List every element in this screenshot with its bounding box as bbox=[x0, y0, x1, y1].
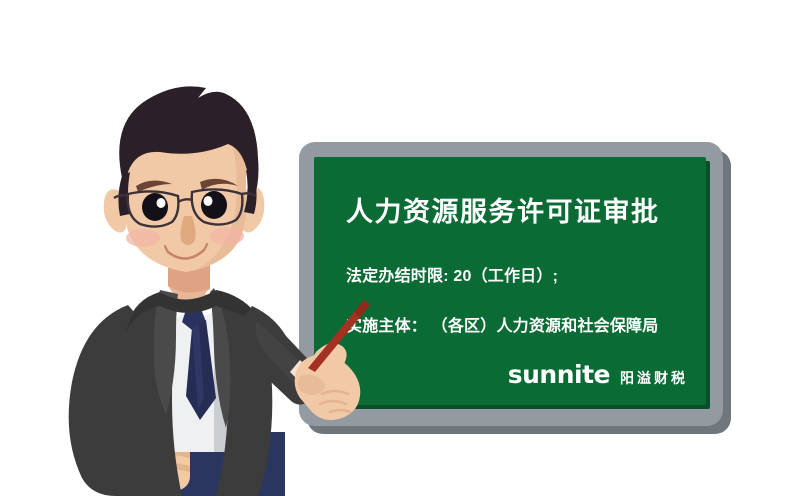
trousers bbox=[163, 432, 285, 496]
neck bbox=[168, 262, 210, 306]
board-authority-line: 实施主体： （各区）人力资源和社会保障局 bbox=[346, 319, 658, 335]
suit-jacket-right bbox=[216, 290, 272, 496]
nose bbox=[180, 216, 195, 245]
cheek-left bbox=[126, 229, 160, 247]
glasses bbox=[114, 189, 256, 226]
suit-jacket-left bbox=[121, 292, 182, 496]
suit-left-arm-inner bbox=[126, 366, 162, 478]
ear-right bbox=[242, 187, 264, 232]
brand-logo: sunnite 阳溢财税 bbox=[508, 362, 688, 387]
tie-knot bbox=[182, 306, 206, 330]
brand-chinese-name: 阳溢财税 bbox=[620, 371, 688, 387]
hair bbox=[119, 86, 258, 198]
eyebrow-left bbox=[136, 180, 172, 192]
mouth-corner-right bbox=[204, 244, 207, 250]
eyebrow-right bbox=[200, 179, 238, 190]
shirt bbox=[160, 292, 228, 452]
left-hand bbox=[146, 430, 190, 490]
hair-sideburn-right bbox=[244, 170, 257, 214]
tie-body-highlight bbox=[192, 324, 204, 410]
illustration-canvas: 人力资源服务许可证审批 法定办结时限: 20（工作日）; 实施主体： （各区）人… bbox=[0, 0, 800, 496]
suit-lapel-right bbox=[210, 288, 231, 428]
hair-sideburn-left bbox=[118, 172, 130, 216]
blackboard-frame: 人力资源服务许可证审批 法定办结时限: 20（工作日）; 实施主体： （各区）人… bbox=[299, 142, 723, 426]
suit-left-arm bbox=[69, 305, 158, 496]
neck-shadow bbox=[168, 262, 210, 293]
face bbox=[124, 106, 246, 272]
eye-right-highlight bbox=[204, 196, 213, 206]
cheek-right bbox=[210, 227, 244, 245]
board-title: 人力资源服务许可证审批 bbox=[346, 199, 676, 226]
eye-right bbox=[201, 191, 227, 219]
suit-lapel-left bbox=[154, 290, 178, 414]
shirt-shadow-left bbox=[160, 300, 176, 340]
mouth-corner-left bbox=[165, 246, 168, 252]
eye-left bbox=[142, 193, 168, 221]
tie-body bbox=[186, 320, 216, 420]
blackboard: 人力资源服务许可证审批 法定办结时限: 20（工作日）; 实施主体： （各区）人… bbox=[299, 142, 731, 434]
mouth bbox=[168, 250, 204, 259]
ear-left bbox=[104, 189, 126, 232]
blackboard-surface: 人力资源服务许可证审批 法定办结时限: 20（工作日）; 实施主体： （各区）人… bbox=[314, 157, 706, 405]
face-shade bbox=[196, 120, 246, 270]
shirt-shadow-right bbox=[214, 300, 232, 452]
collar-left bbox=[154, 286, 186, 324]
eye-left-highlight bbox=[157, 198, 166, 208]
collar-right bbox=[200, 286, 224, 318]
board-processing-time-line: 法定办结时限: 20（工作日）; bbox=[346, 269, 558, 285]
brand-wordmark: sunnite bbox=[508, 362, 610, 387]
suit-shoulders bbox=[126, 290, 262, 332]
